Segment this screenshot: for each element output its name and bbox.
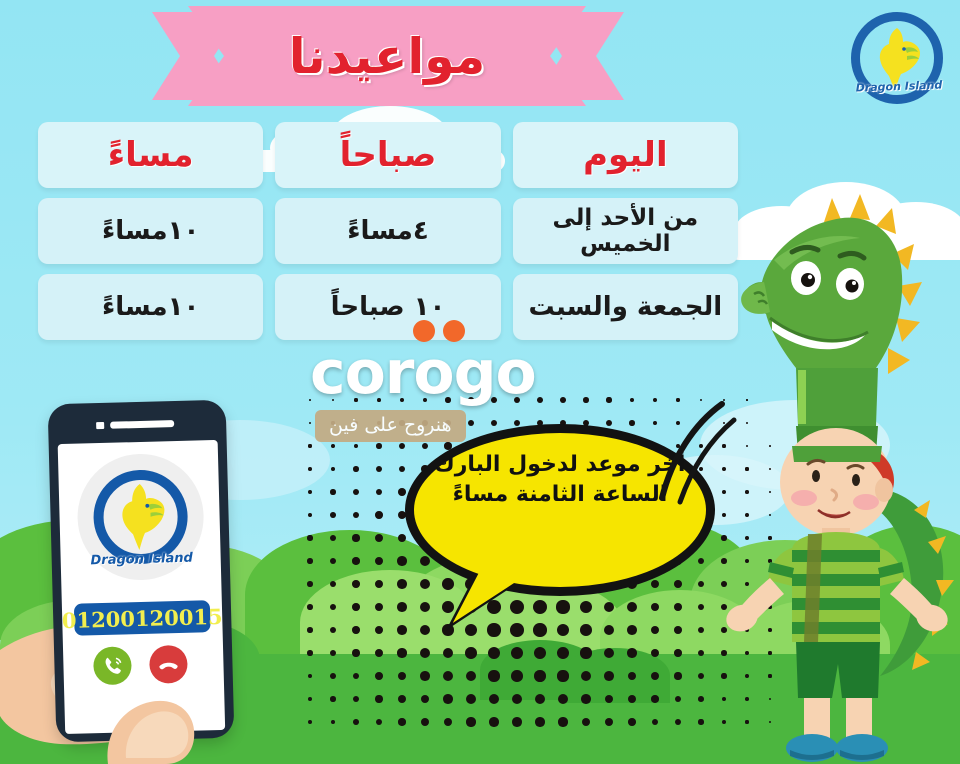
dragon-island-logo: Dragon Island (845, 8, 953, 116)
table-row: الجمعة والسبت ١٠ صباحاً ١٠مساءً (38, 274, 738, 340)
table-row: من الأحد إلى الخميس ٤مساءً ١٠مساءً (38, 198, 738, 264)
phone-logo-label: Dragon Island (79, 550, 205, 568)
page-title: مواعيدنا (152, 6, 622, 106)
cell-evening-2: ١٠مساءً (38, 274, 263, 340)
header-morning: صباحاً (275, 122, 500, 188)
ribbon-banner: مواعيدنا (152, 6, 622, 111)
cell-morning-1: ٤مساءً (275, 198, 500, 264)
watermark-tagline: هنروح على فين (315, 410, 466, 442)
phone-number: 01200120015 (74, 600, 211, 636)
cell-evening-1: ١٠مساءً (38, 198, 263, 264)
header-evening: مساءً (38, 122, 263, 188)
thumb-illustration (96, 650, 226, 764)
watermark-brand: corogo (310, 338, 640, 402)
watermark-text: corogo (310, 338, 536, 408)
motion-lines (650, 398, 740, 508)
cell-morning-2: ١٠ صباحاً (275, 274, 500, 340)
table-header-row: اليوم صباحاً مساءً (38, 122, 738, 188)
phone-speaker-icon (110, 420, 174, 429)
watermark-dot-right-icon (443, 320, 465, 342)
watermark-dot-left-icon (413, 320, 435, 342)
poster-canvas: مواعيدنا اليوم صباحاً مساءً من الأحد إلى… (0, 0, 960, 764)
logo-label: Dragon Island (845, 78, 953, 95)
phone-dragon-head-icon (113, 481, 171, 552)
phone-camera-icon (96, 422, 104, 429)
header-day: اليوم (513, 122, 738, 188)
schedule-table: اليوم صباحاً مساءً من الأحد إلى الخميس ٤… (38, 122, 738, 350)
